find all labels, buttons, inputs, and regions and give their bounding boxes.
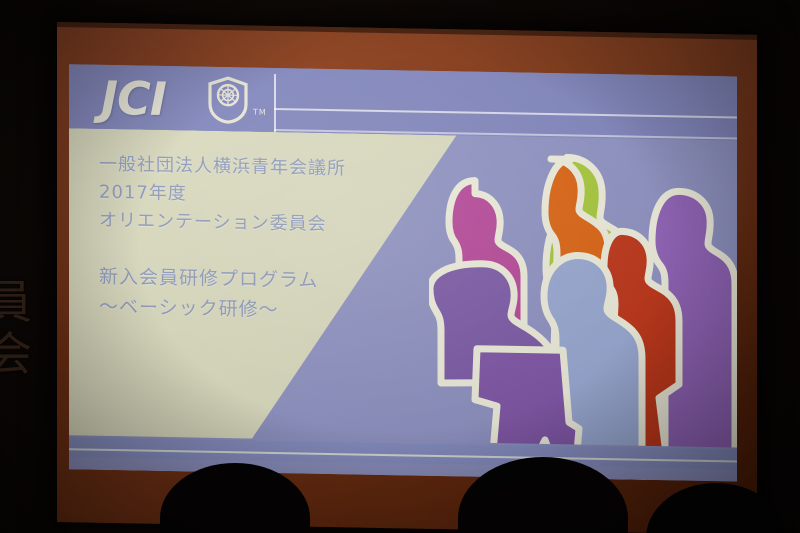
wall-calligraphy: 員会 [0,276,62,416]
projection-screen-frame: JCI TM 一般社団法人横浜青年会議所 2017年度 オリエンテーション委員会 [57,22,757,533]
jci-shield-icon [208,76,248,125]
slide-line-program: 新入会員研修プログラム [99,262,318,296]
figure-purple-seat [475,349,579,457]
header-rule-1 [274,108,737,118]
slide-line-committee: オリエンテーション委員会 [99,207,346,240]
people-silhouettes-illustration [429,135,737,482]
screenshot-root: 員会 [0,0,800,533]
silhouettes-svg [429,135,737,482]
jci-logo-text: JCI [101,71,166,126]
presentation-slide[interactable]: JCI TM 一般社団法人横浜青年会議所 2017年度 オリエンテーション委員会 [69,64,737,481]
slide-header-band: JCI TM [69,64,737,140]
trademark-label: TM [253,108,267,117]
slide-heading-block: 一般社団法人横浜青年会議所 2017年度 オリエンテーション委員会 [99,151,346,240]
slide-line-basic: 〜ベーシック研修〜 [99,292,318,326]
slide-line-year: 2017年度 [99,179,346,212]
slide-line-organization: 一般社団法人横浜青年会議所 [99,151,346,184]
header-vertical-rule [274,74,276,132]
slide-subheading-block: 新入会員研修プログラム 〜ベーシック研修〜 [99,262,318,326]
